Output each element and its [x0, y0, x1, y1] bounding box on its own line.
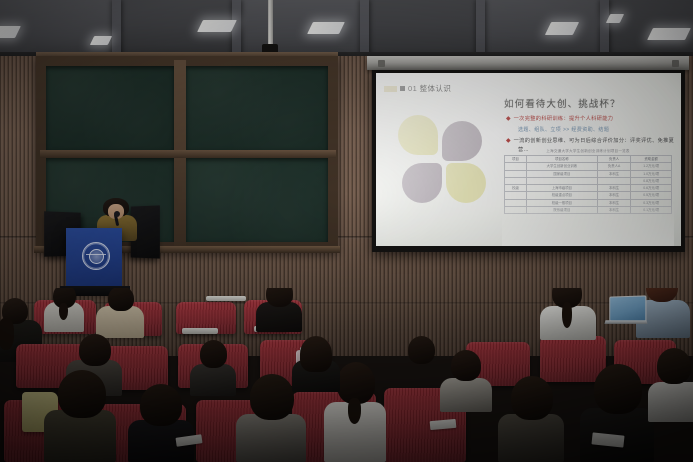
table-cell: 0.1万元/项 [631, 206, 672, 213]
desk-surface [182, 328, 218, 334]
chalkboard-divider-horizontal [40, 150, 336, 158]
student [128, 384, 194, 462]
table-row: 校级一般项目本科生0.3万元/项 [505, 199, 672, 206]
table-cell: 1.0万元/项 [631, 170, 672, 177]
student [44, 288, 84, 332]
chalkboard-panel [46, 66, 174, 150]
student-head [79, 334, 111, 366]
university-seal-icon [82, 242, 110, 270]
housing-end-cap [672, 60, 679, 67]
ceiling-beam [112, 0, 121, 60]
lectern-banner [66, 228, 122, 290]
table-cell: 本科生 [597, 199, 631, 206]
chalkboard-panel [186, 158, 328, 242]
table-row: 大学生创新创业训练负责人A1.2万元/项 [505, 163, 672, 170]
student-long-hair [300, 336, 332, 372]
table-cell [597, 177, 631, 184]
table-cell: 本科生 [597, 206, 631, 213]
table-header-row: 项目 项目名称 负责人 资助金额 [505, 156, 672, 163]
table-header-cell: 资助金额 [631, 156, 672, 163]
table-cell: 大学生创新创业训练 [527, 163, 598, 170]
slide-bullet-text: 一次完整的科研训练：提升个人科研能力 [514, 115, 614, 123]
slide-bullet: ◆ 一流的创新创业思维、可为日后综合评价加分：评奖评优、免推夏 [506, 137, 674, 146]
student-head [108, 288, 134, 311]
table-cell: 院系级项目 [527, 206, 598, 213]
seal-inner-ring [89, 249, 104, 264]
ceiling-light-panel [606, 14, 624, 23]
housing-end-cap [378, 60, 385, 67]
chalkboard-panel [186, 66, 328, 150]
pinwheel-decoration-icon [398, 115, 484, 201]
laptop-screen[interactable] [609, 295, 646, 322]
student-head [266, 288, 293, 307]
table-cell: 0.3万元/项 [631, 199, 672, 206]
table-header-cell: 项目名称 [527, 156, 598, 163]
student [648, 348, 693, 422]
student-head [657, 348, 691, 384]
student-torso [190, 364, 236, 396]
slide-section-tag: 01 整体认识 [384, 83, 451, 94]
table-cell [505, 170, 527, 177]
tag-square-icon [400, 86, 405, 91]
table-cell [527, 177, 598, 184]
bullet-marker-icon: ◆ [506, 115, 511, 124]
table-cell: 校级重点项目 [527, 192, 598, 199]
student [190, 340, 236, 396]
slide-title: 如何看待大创、挑战杯？ [504, 96, 621, 110]
microphone-head-icon [114, 211, 120, 217]
student [440, 350, 492, 412]
student-head [58, 370, 106, 418]
table-body: 大学生创新创业训练负责人A1.2万元/项国家级项目本科生1.0万元/项0.8万元… [505, 163, 672, 214]
petal-top-left [398, 115, 438, 155]
slide-table: 上海交通大学大学生创新创业训练计划项目一览表 项目 项目名称 负责人 资助金额 … [504, 149, 672, 214]
student-ponytail [59, 303, 68, 320]
student-ponytail [348, 398, 361, 424]
table-cell [505, 206, 527, 213]
student [398, 336, 444, 392]
student-long-hair [0, 318, 14, 350]
petal-bottom-left [402, 163, 442, 203]
desk-surface [206, 296, 246, 301]
table-cell: 校级一般项目 [527, 199, 598, 206]
student-head [511, 376, 553, 420]
student [292, 336, 340, 392]
table-cell [505, 199, 527, 206]
table-cell: 0.6万元/项 [631, 185, 672, 192]
student-torso [236, 414, 306, 462]
student-head [408, 336, 435, 364]
student [540, 288, 596, 340]
student [580, 364, 654, 462]
table-row: 0.8万元/项 [505, 177, 672, 184]
slide-table-caption: 上海交通大学大学生创新创业训练计划项目一览表 [504, 149, 672, 155]
table-cell: 本科生 [597, 170, 631, 177]
student-torso [440, 378, 492, 412]
table-cell: 上海市级项目 [527, 185, 598, 192]
table-row: 校级上海市级项目本科生0.6万元/项 [505, 185, 672, 192]
student-torso [498, 414, 564, 462]
table-row: 国家级项目本科生1.0万元/项 [505, 170, 672, 177]
screen-housing [367, 56, 689, 70]
student [256, 288, 302, 332]
table-cell: 1.2万元/项 [631, 163, 672, 170]
student-head [140, 384, 182, 426]
table-header-cell: 负责人 [597, 156, 631, 163]
ceiling-beam [232, 0, 241, 60]
table-cell: 0.5万元/项 [631, 192, 672, 199]
ceiling-beam [360, 0, 369, 60]
lecture-hall-photo: 01 整体认识 如何看待大创、挑战杯？ ◆ 一次完整的科研训练：提升个人科研能力… [0, 0, 693, 462]
projection-screen[interactable]: 01 整体认识 如何看待大创、挑战杯？ ◆ 一次完整的科研训练：提升个人科研能力… [376, 73, 681, 246]
student [96, 288, 144, 338]
ceiling-beam [476, 0, 485, 60]
table-cell: 0.8万元/项 [631, 177, 672, 184]
ceiling-light-panel [197, 20, 237, 32]
table-cell [505, 163, 527, 170]
table-row: 校级重点项目本科生0.5万元/项 [505, 192, 672, 199]
student-torso [648, 382, 693, 422]
table-cell: 本科生 [597, 192, 631, 199]
ceiling-light-panel [307, 22, 345, 34]
bullet-marker-icon: ◆ [506, 137, 511, 146]
student-torso [398, 360, 444, 392]
table-cell: 本科生 [597, 185, 631, 192]
table-cell [505, 192, 527, 199]
student-head [250, 374, 294, 420]
table-row: 院系级项目本科生0.1万元/项 [505, 206, 672, 213]
student [498, 376, 564, 462]
table-cell: 负责人A [597, 163, 631, 170]
slide-bullet-text: 一流的创新创业思维、可为日后综合评价加分：评奖评优、免推夏 [514, 137, 675, 145]
ceiling-light-panel [647, 28, 691, 40]
petal-top-right [442, 121, 482, 161]
table-cell: 校级 [505, 185, 527, 192]
ceiling [0, 0, 693, 60]
projector-pole [268, 0, 273, 48]
slide-tag-text: 01 整体认识 [408, 83, 451, 94]
tag-swatch-icon [384, 86, 397, 92]
slide-bullet: ◆ 一次完整的科研训练：提升个人科研能力 [506, 115, 613, 124]
table-cell: 国家级项目 [527, 170, 598, 177]
seal-bar [86, 254, 106, 255]
petal-bottom-right [446, 163, 486, 203]
ceiling-beam [600, 0, 609, 60]
student [44, 370, 116, 462]
table-header-cell: 项目 [505, 156, 527, 163]
table-cell [505, 177, 527, 184]
laptop-keyboard[interactable] [604, 320, 647, 324]
audience-seating [0, 288, 693, 462]
slide-subbullet-text: 选题、组队、立项 >> 经费资助、结题 [518, 126, 609, 134]
student-head [594, 364, 642, 414]
student-head [200, 340, 227, 368]
student-head [451, 350, 481, 381]
student-ponytail [562, 302, 572, 328]
